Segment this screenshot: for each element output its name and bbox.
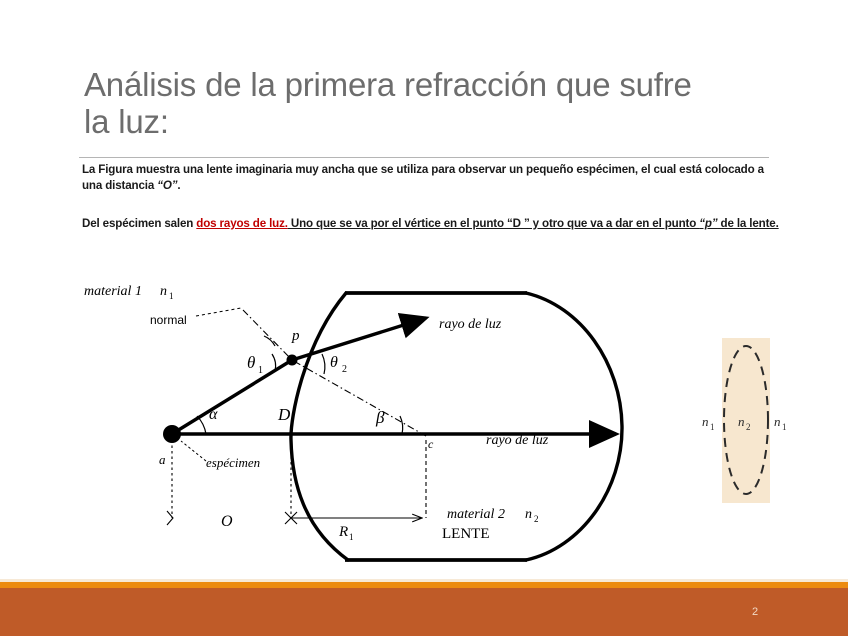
label-point-a: a [159,452,166,467]
lens-thumb-n1-right: n [774,414,781,429]
normal-leader-line [196,308,241,316]
lens-thumb-n2-center-sub: 2 [746,422,751,432]
lens-thumb-n2-center: n [738,414,745,429]
label-point-p: p [291,328,300,344]
para1-text-b: . [177,179,180,192]
para1-text-a: La Figura muestra una lente imaginaria m… [82,163,764,192]
para2-text-a: Del espécimen salen [82,217,196,230]
body-paragraph-1: La Figura muestra una lente imaginaria m… [82,162,772,193]
body-paragraph-2: Del espécimen salen dos rayos de luz. Un… [82,216,782,232]
label-O: O [221,513,233,530]
ray-incident-line [172,360,292,434]
para2-italic-symbol: “p” [699,217,717,230]
title-divider [79,157,769,158]
label-specimen: espécimen [206,455,260,470]
lens-thumbnail-figure: n 1 n 2 n 1 [700,338,792,503]
label-theta-1: θ [247,353,255,372]
lens-thumb-background [722,338,770,503]
page-title: Análisis de la primera refracción que su… [84,66,704,140]
para2-text-b: Uno que se va por el vértice en el punto… [288,217,699,230]
optics-refraction-diagram: material 1 n 1 normal θ 1 θ 2 p α D β [36,268,676,568]
theta1-angle-arc [272,354,276,371]
label-normal: normal [150,313,187,327]
label-material-2: material 2 [447,507,505,522]
label-ray-upper: rayo de luz [439,317,502,332]
label-lente: LENTE [442,526,489,542]
specimen-leader-line [181,441,206,461]
theta-p-angle-arc [264,336,275,346]
para2-text-c: de la lente. [717,217,778,230]
lens-thumb-n1-left: n [702,414,709,429]
slide-canvas: Análisis de la primera refracción que su… [0,0,848,636]
label-n1-sub: 1 [169,291,174,301]
label-theta-1-sub: 1 [258,365,263,376]
label-point-c: c [428,437,434,451]
label-R1-sub: 1 [349,532,354,542]
label-n1: n [160,284,167,299]
lens-thumb-n1-right-sub: 1 [782,422,787,432]
label-ray-lower: rayo de luz [486,433,549,448]
footer-bar [0,588,848,636]
specimen-point [163,425,181,443]
para1-quoted-symbol: “O” [157,179,177,192]
label-R1: R [338,524,348,540]
label-theta-2-sub: 2 [342,364,347,375]
label-D: D [277,405,291,424]
label-theta-2: θ [330,354,338,371]
theta2-angle-arc [322,354,325,374]
label-beta: β [375,408,385,427]
label-n2: n [525,507,532,522]
beta-angle-arc [400,416,403,434]
label-alpha: α [209,406,218,423]
para2-highlight: dos rayos de luz. [196,217,288,230]
label-n2-sub: 2 [534,514,539,524]
label-material-1: material 1 [84,284,142,299]
point-p-marker [287,355,298,366]
lens-thumb-n1-left-sub: 1 [710,422,715,432]
page-number: 2 [740,606,770,618]
ray-refracted-line [292,318,426,360]
